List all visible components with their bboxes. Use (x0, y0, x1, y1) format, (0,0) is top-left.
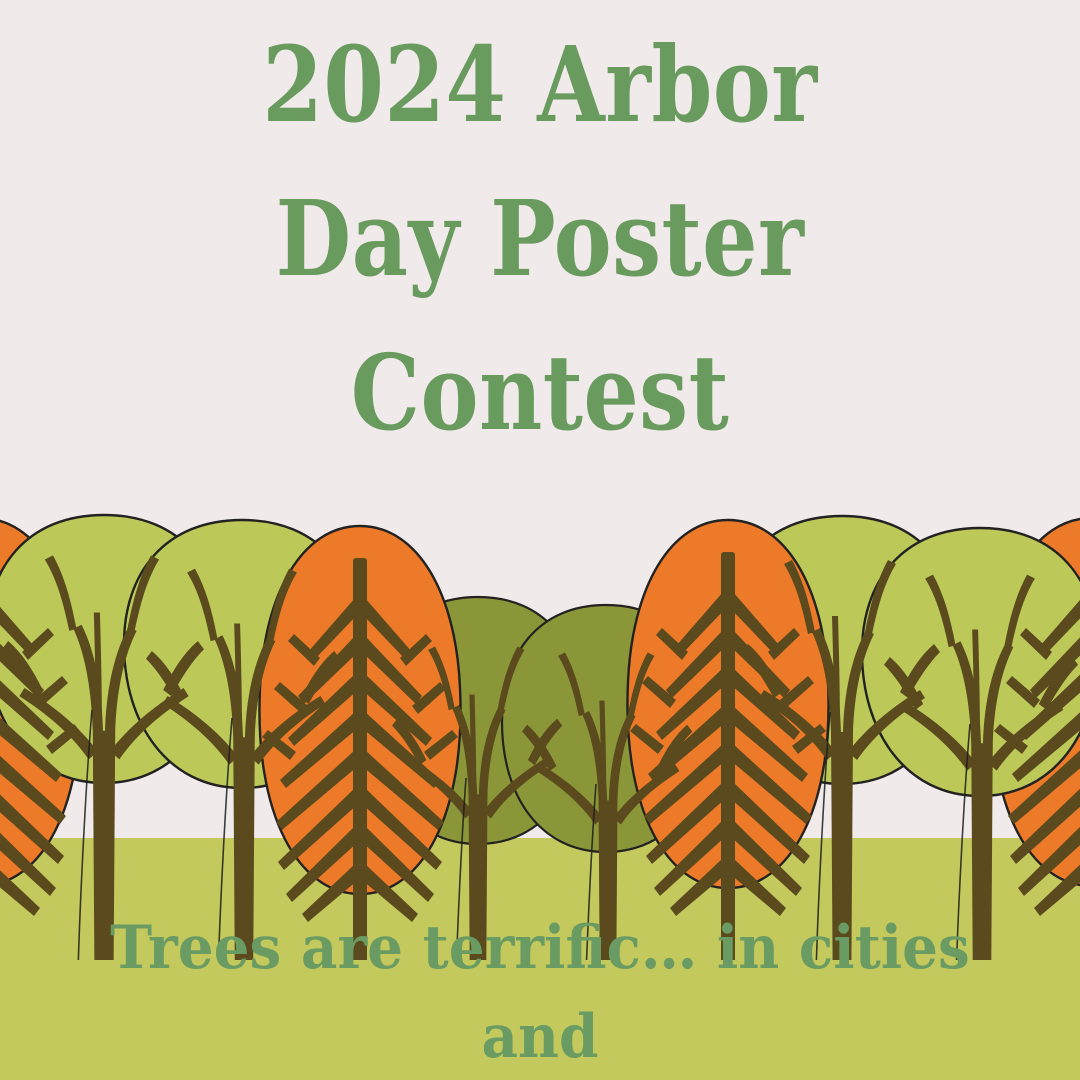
headline-line-1: 2024 Arbor (38, 8, 1042, 162)
poster-subtitle: Trees are terrific… in cities and towns (70, 904, 1010, 1080)
subtitle-line-1: Trees are terrific… in cities and (70, 904, 1010, 1080)
headline-line-2: Day Poster (38, 162, 1042, 316)
arbor-day-poster: 2024 Arbor Day Poster Contest Trees are … (0, 0, 1080, 1080)
tree-row-illustration (0, 460, 1080, 960)
headline-line-3: Contest (38, 316, 1042, 470)
poster-headline: 2024 Arbor Day Poster Contest (38, 8, 1042, 470)
